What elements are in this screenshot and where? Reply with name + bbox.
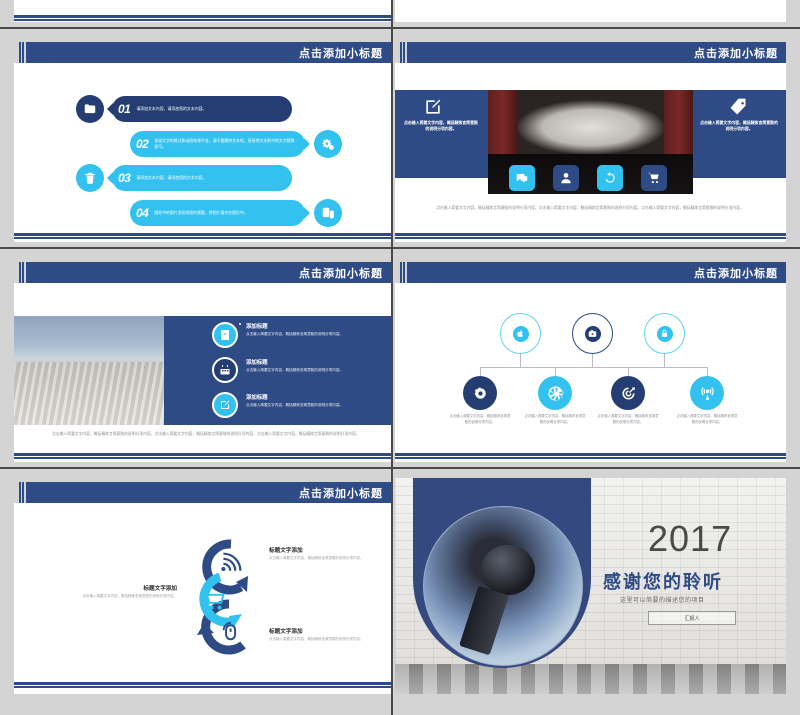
list-item[interactable]: 03 请添加文本内容，请添加您的文本内容。	[76, 164, 292, 192]
row-divider-3	[0, 467, 800, 469]
settings-gears-icon	[314, 130, 342, 158]
cinema-right-text: 点击输入简要文字内容，概括精炼言简意赅的说明分项内容。	[700, 120, 778, 133]
loop-text: 点击输入简要文字内容，概括精炼言简意赅的说明分项内容。	[269, 556, 379, 562]
signal-icon[interactable]	[690, 376, 724, 410]
cinema-left-text: 点击输入简要文字内容，概括精炼言简意赅的说明分项内容。	[403, 120, 479, 133]
header-stripes-icon	[18, 482, 26, 503]
tree-caption: 点击输入简要文字内容，概括精炼言简意赅的说明分项内容。	[676, 414, 738, 426]
partial-caption-3: 要领的说明分项内容。	[299, 0, 335, 1]
calendar-icon	[212, 357, 238, 383]
slide-footer-rule	[395, 453, 786, 459]
chat-bubbles-icon[interactable]	[509, 165, 535, 191]
header-stripes-icon	[18, 42, 26, 63]
slide-thumbnail-thanks[interactable]: 2017 感谢您的聆听 这里可以简要的描述您的项目 汇报人	[395, 478, 786, 694]
slide-thumbnail-loops[interactable]: 点击添加小标题	[14, 482, 391, 694]
list-item-text: 请添加文本内容，请添加您的文本内容。	[136, 106, 206, 112]
loop-text: 点击输入简要文字内容，概括精炼言简意赅的说明分项内容。	[62, 594, 177, 600]
slide-header: 点击添加小标题	[14, 42, 391, 66]
slide-header: 点击添加小标题	[14, 262, 391, 286]
list-item-number: 01	[118, 102, 130, 116]
slide-footer-rule	[14, 453, 391, 459]
slide-footer-rule	[395, 233, 786, 239]
tree-caption: 点击输入简要文字内容，概括精炼言简意赅的说明分项内容。	[524, 414, 586, 426]
loop-text: 点击输入简要文字内容，概括精炼言简意赅的说明分项内容。	[269, 637, 379, 643]
cart-icon[interactable]	[641, 165, 667, 191]
camera-icon	[585, 326, 601, 342]
target-icon[interactable]	[611, 376, 645, 410]
user-icon[interactable]	[553, 165, 579, 191]
list-item-number: 04	[136, 206, 148, 220]
list-item-pill[interactable]: 04 图形中的图片多因排版的需要，将图片填充在图形中。	[130, 200, 305, 226]
slide-title: 点击添加小标题	[299, 485, 383, 501]
history-icon[interactable]	[597, 165, 623, 191]
tree-connector-bus	[480, 367, 708, 368]
tree-caption: 点击输入简要文字内容，概括精炼言简意赅的说明分项内容。	[449, 414, 511, 426]
slide-header: 点击添加小标题	[14, 482, 391, 506]
list-item-heading: 添加标题	[246, 393, 381, 401]
slide-footer-rule	[14, 15, 391, 21]
list-item-text: 请添加文本内容，请添加您的文本内容。	[136, 175, 206, 181]
list-item-text: 点击输入简要文字内容，概括精炼言简意赅的说明分项内容。	[246, 332, 381, 338]
slide-footer-rule	[14, 233, 391, 239]
aperture-icon[interactable]	[538, 376, 572, 410]
row-divider-2	[0, 247, 800, 249]
devices-icon	[314, 199, 342, 227]
list-item-pill[interactable]: 03 请添加文本内容，请添加您的文本内容。	[112, 165, 292, 191]
list-item[interactable]: 添加标题 点击输入简要文字内容，概括精炼言简意赅的说明分项内容。	[246, 393, 381, 409]
slide-title: 点击添加小标题	[694, 265, 778, 281]
loop-label[interactable]: 标题文字添加 点击输入简要文字内容，概括精炼言简意赅的说明分项内容。	[269, 627, 379, 643]
speaker-button[interactable]: 汇报人	[648, 611, 736, 625]
tree-connector	[520, 354, 521, 367]
loop-heading: 标题文字添加	[62, 584, 177, 592]
slide-header: 点击添加小标题	[395, 262, 786, 286]
tree-connector	[592, 354, 593, 367]
slide-thumbnail-list[interactable]: 点击添加小标题 01 请添加文本内容，请添加您的文本内容。 02 保留文字的格式…	[14, 42, 391, 242]
checklist-icon	[212, 322, 238, 348]
lock-icon	[657, 326, 673, 342]
thanks-subtitle: 这里可以简要的描述您的项目	[620, 595, 705, 604]
tree-node-top[interactable]	[500, 313, 541, 354]
slide-thumbnail-tree[interactable]: 点击添加小标题	[395, 262, 786, 462]
list-item-pill[interactable]: 02 保留文字的格式和动画效果不变，请不要删除文本框，直接把文本框中的文字替换即…	[130, 131, 305, 157]
header-stripes-icon	[399, 262, 407, 283]
tree-node-top[interactable]	[644, 313, 685, 354]
list-item-heading: 添加标题	[246, 358, 381, 366]
loop-heading: 标题文字添加	[269, 546, 379, 554]
tree-connector	[664, 354, 665, 367]
list-item-number: 02	[136, 137, 148, 151]
list-item-number: 03	[118, 171, 130, 185]
slide-thumbnail-cinema[interactable]: 点击添加小标题 点击输入简要文字内容，概括精炼言简意赅的说明分项内容。 点击输入…	[395, 42, 786, 242]
header-stripes-icon	[18, 262, 26, 283]
gear-icon[interactable]	[463, 376, 497, 410]
trash-icon	[76, 164, 104, 192]
list-item-text: 点击输入简要文字内容，概括精炼言简意赅的说明分项内容。	[246, 368, 381, 374]
floor-background	[395, 664, 786, 694]
slide-thumbnail-partial-right[interactable]	[395, 0, 786, 22]
loop-label[interactable]: 标题文字添加 点击输入简要文字内容，概括精炼言简意赅的说明分项内容。	[62, 584, 177, 600]
loops-diagram	[174, 530, 284, 660]
list-item[interactable]: 02 保留文字的格式和动画效果不变，请不要删除文本框，直接把文本框中的文字替换即…	[130, 130, 342, 158]
column-divider	[391, 0, 393, 715]
header-stripes-icon	[399, 42, 407, 63]
list-item-text: 点击输入简要文字内容，概括精炼言简意赅的说明分项内容。	[246, 403, 381, 409]
loop-heading: 标题文字添加	[269, 627, 379, 635]
row-divider-1	[0, 27, 800, 29]
year-label: 2017	[648, 518, 732, 560]
tree-node-top[interactable]	[572, 313, 613, 354]
folder-icon	[76, 95, 104, 123]
slide-thumbnail-partial-left[interactable]: 要领的说明分项内容。 要领的说明分项内容。 要领的说明分项内容。	[14, 0, 391, 22]
photo-note: 点击输入简要文字内容，概括精炼言简意赅的说明分项内容。点击输入简要文字内容，概括…	[52, 431, 372, 437]
list-item-pill[interactable]: 01 请添加文本内容，请添加您的文本内容。	[112, 96, 292, 122]
apple-icon	[513, 326, 529, 342]
edit-square-icon	[423, 97, 443, 122]
microphone-photo	[423, 506, 583, 666]
list-item[interactable]: 04 图形中的图片多因排版的需要，将图片填充在图形中。	[130, 199, 342, 227]
list-item[interactable]: 添加标题 点击输入简要文字内容，概括精炼言简意赅的说明分项内容。	[246, 358, 381, 374]
slide-footer-rule	[14, 682, 391, 688]
edit-square-icon	[212, 392, 238, 418]
loop-label[interactable]: 标题文字添加 点击输入简要文字内容，概括精炼言简意赅的说明分项内容。	[269, 546, 379, 562]
list-item-text: 保留文字的格式和动画效果不变，请不要删除文本框，直接把文本框中的文字替换即可。	[154, 138, 295, 150]
list-item[interactable]: 添加标题 点击输入简要文字内容，概括精炼言简意赅的说明分项内容。	[246, 322, 381, 338]
list-item-text: 图形中的图片多因排版的需要，将图片填充在图形中。	[154, 210, 247, 216]
cinema-note: 点击输入简要文字内容，概括精炼言简意赅的说明分项内容。点击输入简要文字内容，概括…	[425, 205, 755, 211]
slide-header: 点击添加小标题	[395, 42, 786, 66]
slide-title: 点击添加小标题	[299, 265, 383, 281]
thanks-headline: 感谢您的聆听	[603, 568, 723, 594]
slide-deck-sheet: 要领的说明分项内容。 要领的说明分项内容。 要领的说明分项内容。 点击添加小标题	[0, 0, 800, 715]
list-item-heading: 添加标题	[246, 322, 381, 330]
tree-caption: 点击输入简要文字内容，概括精炼言简意赅的说明分项内容。	[597, 414, 659, 426]
partial-caption-1: 要领的说明分项内容。	[62, 0, 98, 1]
partial-caption-2: 要领的说明分项内容。	[181, 0, 217, 1]
slide-thumbnail-photo-list[interactable]: 点击添加小标题 添加标题 点击输入简要文字内容，概括精炼言简意赅的说明分项内容。…	[14, 262, 391, 462]
slide-title: 点击添加小标题	[299, 45, 383, 61]
slide-title: 点击添加小标题	[694, 45, 778, 61]
list-item[interactable]: 01 请添加文本内容，请添加您的文本内容。	[76, 95, 292, 123]
tag-icon	[728, 97, 748, 122]
